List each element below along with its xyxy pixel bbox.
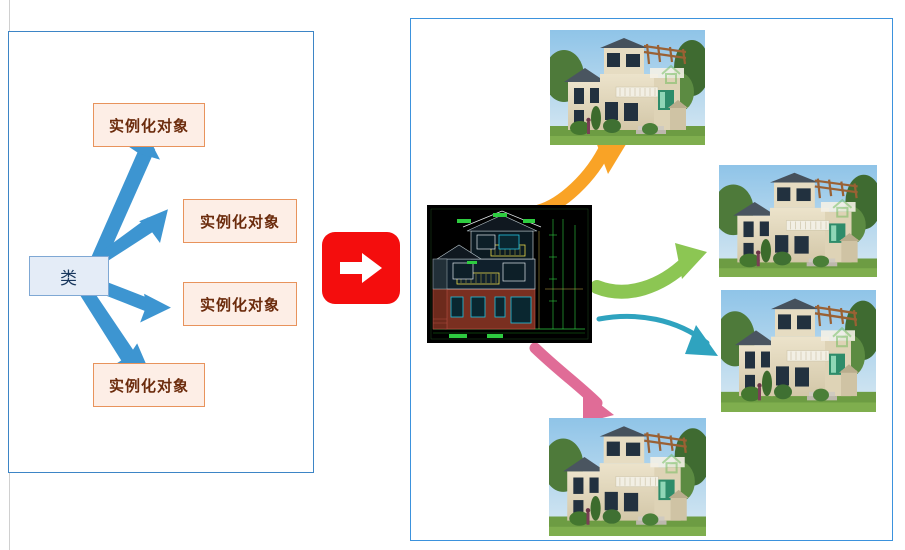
villa-photo-art xyxy=(721,290,876,412)
class-node-label: 类 xyxy=(60,264,78,289)
villa-render-right-lower[interactable] xyxy=(721,290,876,412)
villa-render-bottom[interactable] xyxy=(549,418,706,536)
arrow-green xyxy=(597,243,707,292)
right-arrow-icon xyxy=(338,251,384,285)
diagram-canvas: 类 实例化对象 实例化对象 实例化对象 实例化对象 xyxy=(0,0,905,550)
villa-render-top[interactable] xyxy=(550,30,705,145)
object-node-3-label: 实例化对象 xyxy=(200,294,280,315)
class-instantiation-panel: 类 实例化对象 实例化对象 实例化对象 实例化对象 xyxy=(8,31,314,473)
cad-linework xyxy=(427,205,592,343)
object-node-4[interactable]: 实例化对象 xyxy=(93,363,205,407)
villa-render-right-upper[interactable] xyxy=(719,165,877,277)
arrow-pink xyxy=(535,348,614,423)
object-node-1-label: 实例化对象 xyxy=(109,115,189,136)
arrow-to-object-3-head xyxy=(140,294,171,323)
villa-photo-art xyxy=(719,165,877,277)
villa-photo-art xyxy=(549,418,706,536)
object-node-4-label: 实例化对象 xyxy=(109,375,189,396)
transform-arrow-badge[interactable] xyxy=(322,232,400,304)
cad-elevation-drawing[interactable] xyxy=(427,205,592,343)
class-node[interactable]: 类 xyxy=(29,256,109,296)
object-node-2[interactable]: 实例化对象 xyxy=(183,199,297,243)
arrow-orange xyxy=(539,134,628,211)
object-node-2-label: 实例化对象 xyxy=(200,211,280,232)
blueprint-render-panel xyxy=(410,18,893,541)
object-node-1[interactable]: 实例化对象 xyxy=(93,103,205,147)
villa-photo-art xyxy=(550,30,705,145)
arrow-to-object-2-head xyxy=(139,209,168,243)
object-node-3[interactable]: 实例化对象 xyxy=(183,282,297,326)
arrow-to-object-1 xyxy=(90,133,155,266)
arrow-cyan xyxy=(599,316,718,356)
